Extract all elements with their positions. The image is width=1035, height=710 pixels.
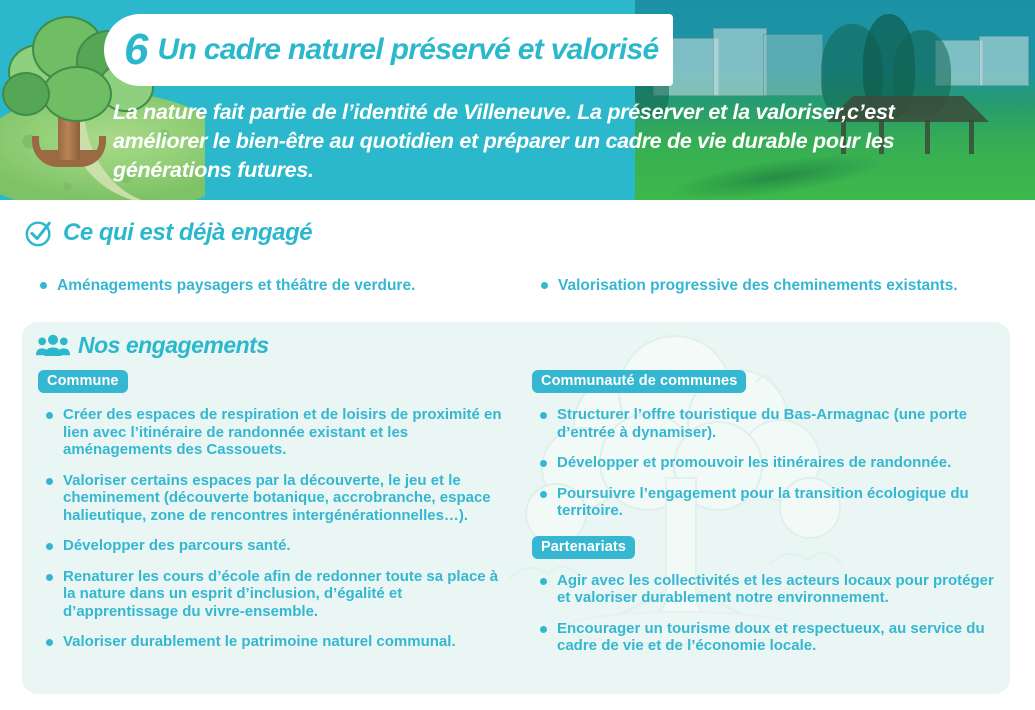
header-banner: 6 Un cadre naturel préservé et valorisé …	[0, 0, 1035, 200]
list-item: Valoriser certains espaces par la découv…	[46, 472, 502, 525]
commitments-columns: Commune Créer des espaces de respiration…	[22, 370, 1010, 655]
bullet-dot-icon	[46, 574, 53, 581]
people-group-icon	[36, 334, 70, 358]
intercommunal-column: Communauté de communes Structurer l’offr…	[516, 370, 1010, 655]
list-item-text: Développer des parcours santé.	[63, 537, 502, 555]
engaged-section-title: Ce qui est déjà engagé	[63, 219, 312, 247]
list-item-text: Valorisation progressive des cheminement…	[558, 276, 1014, 295]
section-title: Un cadre naturel préservé et valorisé	[157, 33, 658, 67]
photo-houses	[635, 18, 1035, 96]
bullet-dot-icon	[540, 578, 547, 585]
commitments-panel: Nos engagements Commune Créer des espace…	[22, 322, 1010, 694]
canopy-blob	[42, 66, 112, 122]
check-circle-icon	[24, 218, 54, 248]
engaged-columns: Aménagements paysagers et théâtre de ver…	[24, 276, 1014, 295]
bullet-dot-icon	[540, 491, 547, 498]
engaged-section-header: Ce qui est déjà engagé	[24, 218, 312, 248]
canopy-blob	[2, 72, 50, 116]
badge-partenariats: Partenariats	[532, 536, 635, 559]
house-shape	[979, 36, 1029, 86]
section-title-banner: 6 Un cadre naturel préservé et valorisé	[104, 14, 673, 86]
list-item: Développer et promouvoir les itinéraires…	[540, 454, 996, 472]
list-item: Valoriser durablement le patrimoine natu…	[46, 633, 502, 651]
bullet-dot-icon	[40, 282, 47, 289]
bullet-dot-icon	[46, 639, 53, 646]
list-item: Créer des espaces de respiration et de l…	[46, 406, 502, 459]
list-item-text: Valoriser durablement le patrimoine natu…	[63, 633, 502, 651]
list-item-text: Agir avec les collectivités et les acteu…	[557, 572, 996, 607]
engaged-left-column: Aménagements paysagers et théâtre de ver…	[24, 276, 519, 295]
lavoir-post	[925, 120, 930, 154]
bullet-dot-icon	[540, 460, 547, 467]
list-item: Structurer l’offre touristique du Bas-Ar…	[540, 406, 996, 441]
list-item: Encourager un tourisme doux et respectue…	[540, 620, 996, 655]
bullet-dot-icon	[541, 282, 548, 289]
header-intro-text: La nature fait partie de l’identité de V…	[113, 98, 923, 185]
bullet-dot-icon	[46, 412, 53, 419]
commitments-title: Nos engagements	[78, 332, 269, 359]
bullet-dot-icon	[540, 412, 547, 419]
house-shape	[713, 28, 767, 96]
list-item-text: Poursuivre l’engagement pour la transiti…	[557, 485, 996, 520]
lavoir-post	[969, 120, 974, 154]
list-item: Développer des parcours santé.	[46, 537, 502, 555]
engaged-right-column: Valorisation progressive des cheminement…	[519, 276, 1014, 295]
badge-communaute-de-communes: Communauté de communes	[532, 370, 746, 393]
list-item-text: Valoriser certains espaces par la découv…	[63, 472, 502, 525]
list-item: Renaturer les cours d’école afin de redo…	[46, 568, 502, 621]
commune-column: Commune Créer des espaces de respiration…	[22, 370, 516, 655]
list-item: Valorisation progressive des cheminement…	[541, 276, 1014, 295]
list-item-text: Encourager un tourisme doux et respectue…	[557, 620, 996, 655]
list-item: Aménagements paysagers et théâtre de ver…	[40, 276, 519, 295]
bullet-dot-icon	[540, 626, 547, 633]
commitments-header: Nos engagements	[36, 332, 269, 359]
bullet-dot-icon	[46, 478, 53, 485]
list-item-text: Structurer l’offre touristique du Bas-Ar…	[557, 406, 996, 441]
bullet-dot-icon	[46, 543, 53, 550]
list-item-text: Développer et promouvoir les itinéraires…	[557, 454, 996, 472]
house-shape	[763, 34, 823, 96]
section-number: 6	[124, 28, 147, 72]
list-item: Poursuivre l’engagement pour la transiti…	[540, 485, 996, 520]
badge-commune: Commune	[38, 370, 128, 393]
list-item-text: Aménagements paysagers et théâtre de ver…	[57, 276, 519, 295]
poster-page: 6 Un cadre naturel préservé et valorisé …	[0, 0, 1035, 710]
list-item-text: Renaturer les cours d’école afin de redo…	[63, 568, 502, 621]
list-item: Agir avec les collectivités et les acteu…	[540, 572, 996, 607]
list-item-text: Créer des espaces de respiration et de l…	[63, 406, 502, 459]
